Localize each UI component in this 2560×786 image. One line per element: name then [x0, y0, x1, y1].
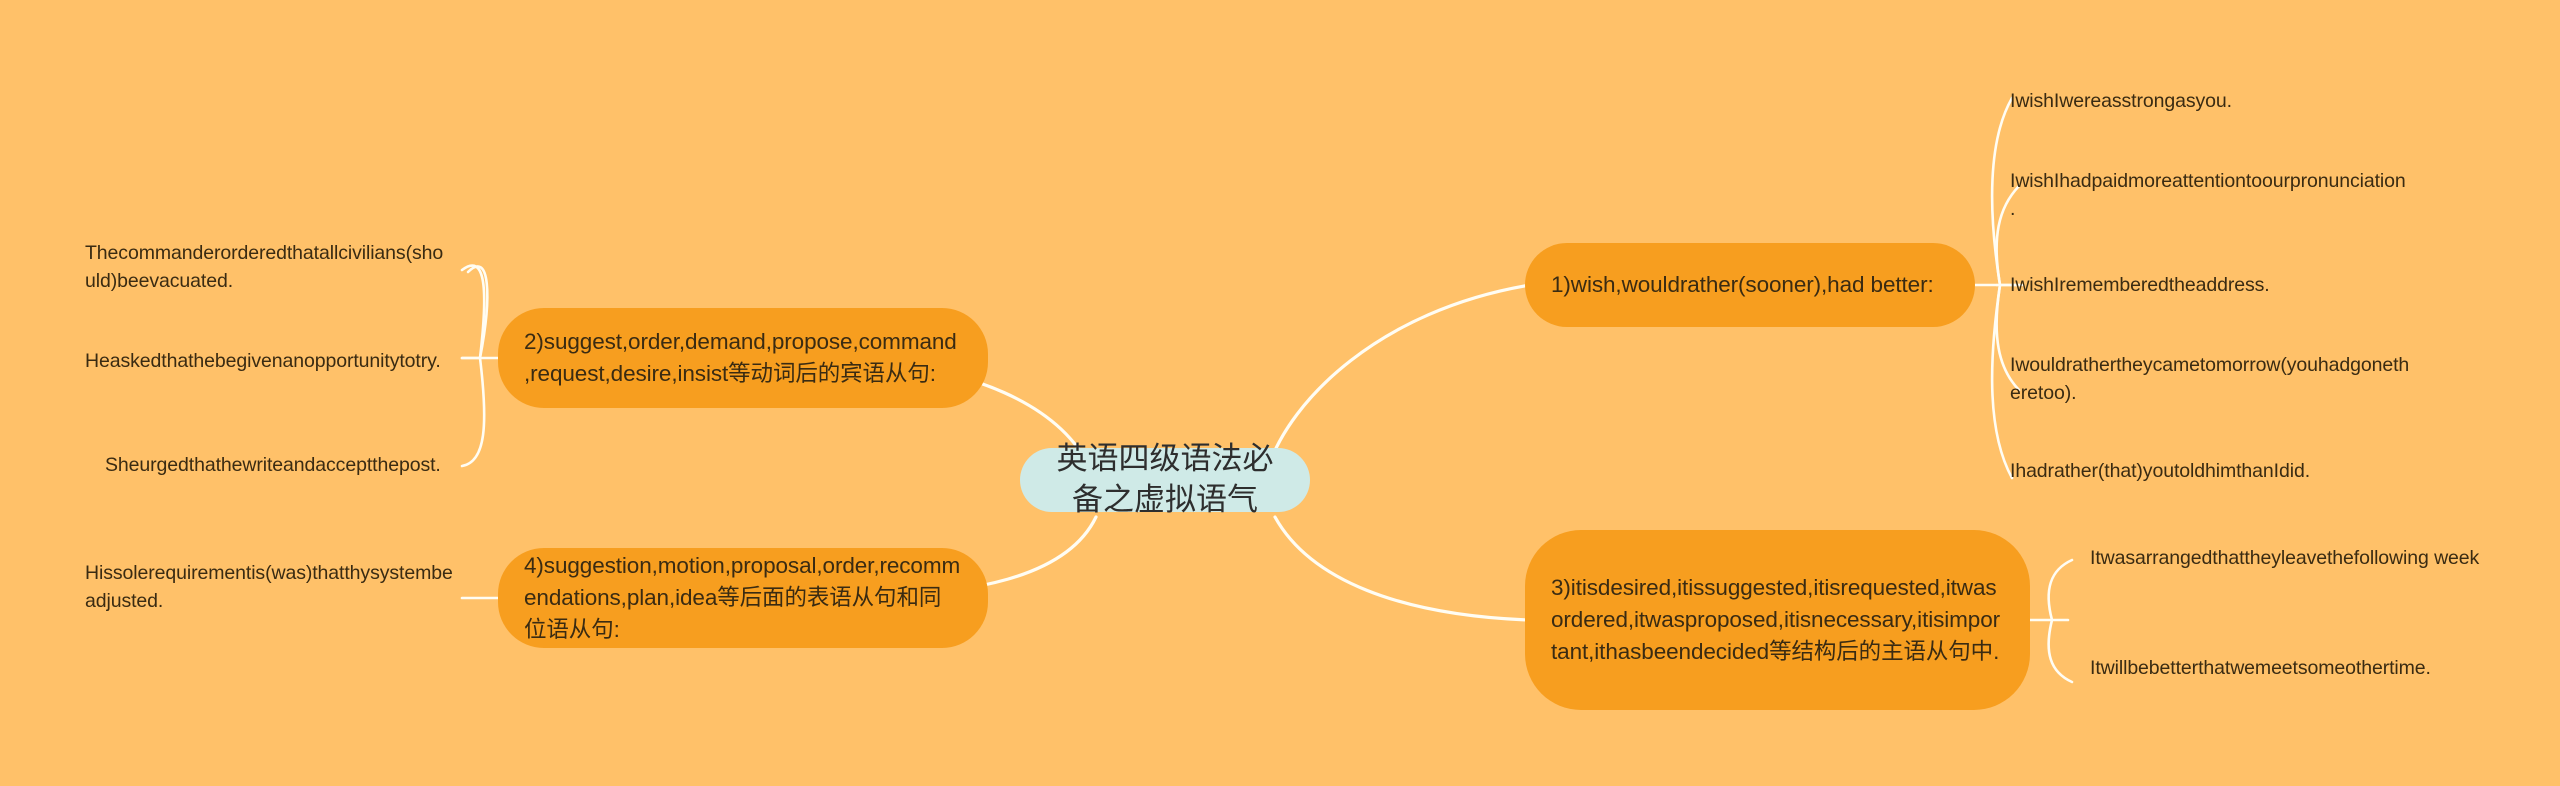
leaf-text: Ihadrather(that)youtoldhimthanIdid.	[2010, 460, 2310, 482]
leaf-branch-4-item-1[interactable]: Hissolerequirementis(was)thatthysystembe…	[85, 560, 453, 615]
branch-node-2-label: 2)suggest,order,demand,propose,command,r…	[524, 326, 962, 390]
connector-root-branch-3	[1275, 517, 1528, 620]
leaf-text: Thecommanderorderedthatallcivilians(shou…	[85, 242, 443, 292]
mindmap-canvas: 英语四级语法必备之虚拟语气 1)wish,wouldrather(sooner)…	[0, 0, 2560, 786]
leaf-text: Iwouldrathertheycametomorrow(youhadgonet…	[2010, 354, 2409, 404]
leaf-branch-2-item-2[interactable]: Heaskedthathebegivenanopportunitytotry.	[85, 348, 453, 376]
leaf-text: Sheurgedthathewriteandacceptthepost.	[105, 454, 441, 476]
leaf-branch-3-item-2[interactable]: Itwillbebetterthatwemeetsomeothertime.	[2090, 655, 2510, 683]
connector-branch-2-leaf-1	[468, 266, 487, 358]
connector-branch-3-leaf-2	[2049, 620, 2072, 682]
connector-root-branch-1	[1268, 285, 1530, 468]
connector-branch-2-leaf-3	[462, 358, 484, 466]
branch-node-4[interactable]: 4)suggestion,motion,proposal,order,recom…	[498, 548, 988, 648]
leaf-branch-2-item-1[interactable]: Thecommanderorderedthatallcivilians(shou…	[85, 240, 453, 295]
root-node-label: 英语四级语法必备之虚拟语气	[1046, 439, 1284, 521]
leaf-text: IwishIhadpaidmoreattentiontoourpronuncia…	[2010, 170, 2406, 220]
leaf-text: Heaskedthathebegivenanopportunitytotry.	[85, 350, 441, 372]
branch-node-3-label: 3)itisdesired,itissuggested,itisrequeste…	[1551, 572, 2004, 668]
connector-branch-3-leaf-1	[2049, 560, 2072, 620]
branch-node-4-label: 4)suggestion,motion,proposal,order,recom…	[524, 550, 962, 646]
leaf-branch-1-item-1[interactable]: IwishIwereasstrongasyou.	[2010, 88, 2410, 116]
branch-node-1-label: 1)wish,wouldrather(sooner),had better:	[1551, 269, 1949, 301]
branch-node-3[interactable]: 3)itisdesired,itissuggested,itisrequeste…	[1525, 530, 2030, 710]
leaf-text: Itwillbebetterthatwemeetsomeothertime.	[2090, 657, 2431, 679]
leaf-text: Hissolerequirementis(was)thatthysystembe…	[85, 562, 453, 612]
branch-node-1[interactable]: 1)wish,wouldrather(sooner),had better:	[1525, 243, 1975, 327]
root-node[interactable]: 英语四级语法必备之虚拟语气	[1020, 448, 1310, 512]
leaf-branch-1-item-5[interactable]: Ihadrather(that)youtoldhimthanIdid.	[2010, 458, 2430, 486]
leaf-text: Itwasarrangedthattheyleavethefollowing w…	[2090, 547, 2479, 569]
leaf-text: IwishIwereasstrongasyou.	[2010, 90, 2232, 112]
leaf-branch-2-item-3[interactable]: Sheurgedthathewriteandacceptthepost.	[105, 452, 465, 480]
leaf-branch-1-item-4[interactable]: Iwouldrathertheycametomorrow(youhadgonet…	[2010, 352, 2410, 407]
branch-node-2[interactable]: 2)suggest,order,demand,propose,command,r…	[498, 308, 988, 408]
leaf-branch-1-item-3[interactable]: IwishIrememberedtheaddress.	[2010, 272, 2410, 300]
leaf-branch-3-item-1[interactable]: Itwasarrangedthattheyleavethefollowing w…	[2090, 545, 2490, 573]
leaf-text: IwishIrememberedtheaddress.	[2010, 274, 2270, 296]
connector-branch-2-leaf-1b	[462, 266, 484, 358]
leaf-branch-1-item-2[interactable]: IwishIhadpaidmoreattentiontoourpronuncia…	[2010, 168, 2410, 223]
